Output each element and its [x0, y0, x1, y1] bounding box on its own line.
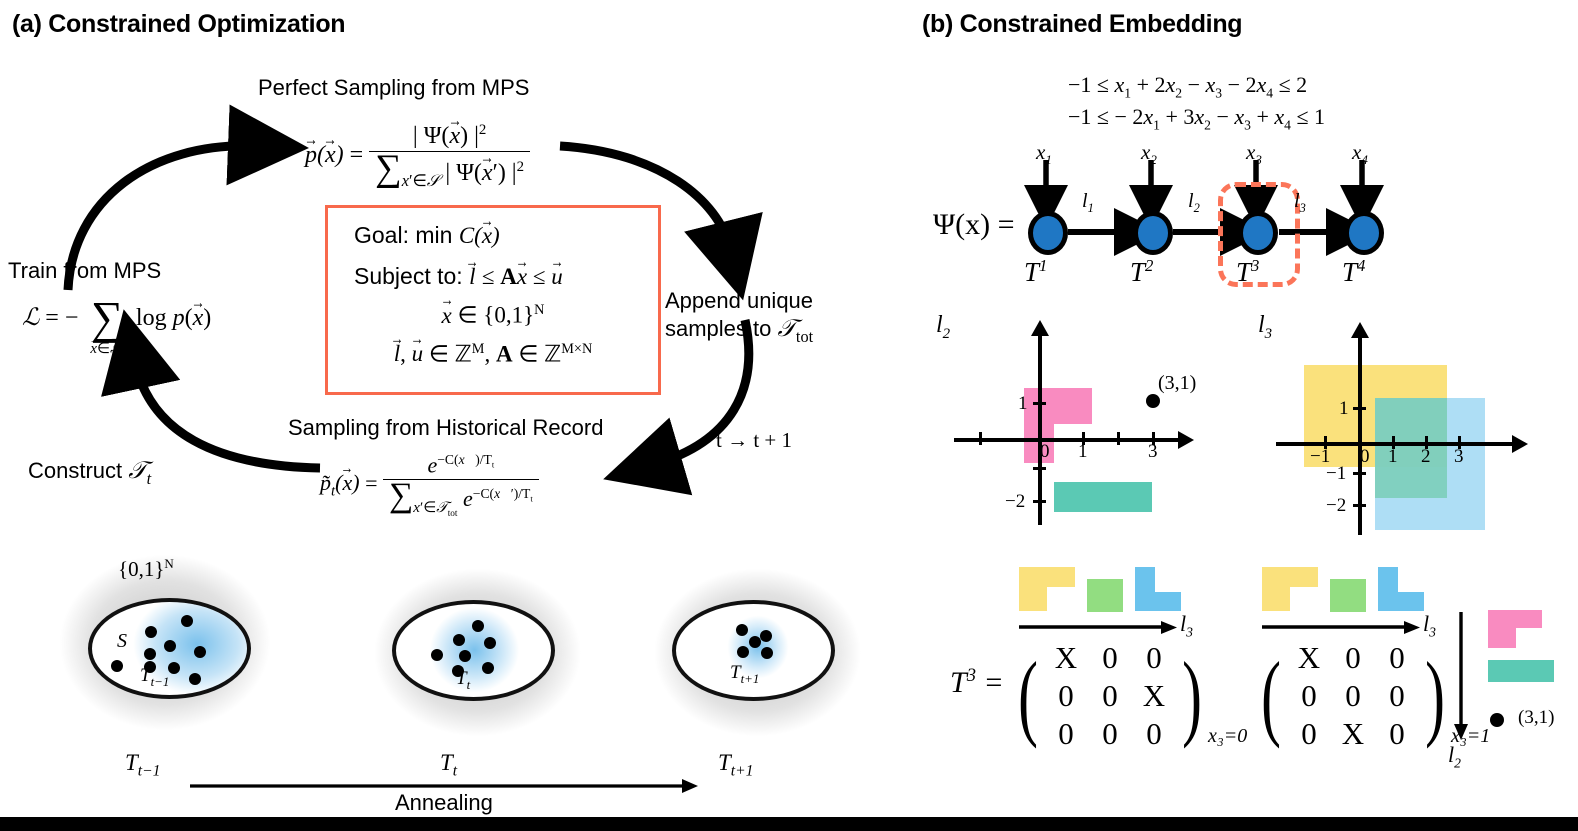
cell1-2-1: X [1331, 716, 1375, 752]
cell-1-0: 0 [1044, 678, 1088, 714]
plot-l3-xtick-3: 3 [1454, 446, 1464, 468]
feasible-ellipse-2: Tt [392, 600, 555, 701]
mps-node-2[interactable] [1133, 211, 1173, 255]
plot-l3-xtick-0: 0 [1360, 446, 1370, 468]
panel-a-title: (a) Constrained Optimization [12, 10, 345, 39]
cell-0-2: 0 [1132, 640, 1176, 676]
yellow-l-shape-left-0 [1019, 567, 1047, 611]
bottom-bar [0, 817, 1578, 831]
yellow-l-shape-left-1 [1262, 567, 1290, 611]
slice0-l3-label: l3 [1180, 611, 1193, 640]
matrix-left-paren-1: ( [1261, 657, 1281, 736]
plot-l2-point-label: (3,1) [1158, 372, 1196, 395]
tensor-label-2: T2 [1130, 256, 1153, 288]
slice0-subscript: x₃=0 [1208, 725, 1247, 748]
label-append-unique: Append unique samples to 𝒯tot [665, 288, 813, 347]
cell-2-0: 0 [1044, 716, 1088, 752]
legend-pink-shape [1488, 610, 1578, 650]
cell1-1-0: 0 [1287, 678, 1331, 714]
slice0-strip [1019, 567, 1229, 617]
cloud-group-3: Tt+1 [620, 545, 900, 760]
slice0-l3-arrow [1019, 620, 1179, 636]
tensor-label-1: T1 [1024, 256, 1047, 288]
legend-point-marker [1490, 713, 1504, 727]
feasible-ellipse-1: S Tt−1 [88, 598, 251, 699]
label-train-from-mps: Train from MPS [8, 258, 161, 284]
tensor-label-4: T4 [1342, 256, 1365, 288]
plot-l2-ytick-neg2: −2 [1005, 491, 1025, 513]
bond-label-1: l1 [1082, 190, 1094, 216]
pink-l-shape-top [1024, 388, 1092, 424]
cell-0-1: 0 [1088, 640, 1132, 676]
feasible-ellipse-3: Tt+1 [672, 600, 835, 701]
cell1-0-2: 0 [1375, 640, 1419, 676]
mps-node-1[interactable] [1028, 211, 1068, 255]
label-construct: Construct 𝒯t [28, 458, 151, 489]
equation-p-tilde: p̃t(x) = e−C(x⃗)/Tt ∑x′∈𝒯tot e−C(x⃗′)/Tt [320, 452, 539, 519]
matrix-right-paren-1: ) [1425, 657, 1445, 736]
plot-l3: l3 −1 0 1 2 3 1 −1 −2 [1250, 310, 1578, 535]
green-square-1 [1330, 579, 1366, 612]
plot-l2-ytick-1: 1 [1018, 393, 1028, 415]
tensor-label-3: T3 [1236, 256, 1259, 288]
goal-line-domain: x ∈ {0,1}N [328, 302, 658, 329]
plot-l2-axis-label: l2 [936, 312, 950, 343]
constraint-line-1: −1 ≤ x1 + 2x2 − x3 − 2x4 ≤ 2 [1068, 72, 1307, 101]
cell-1-1: 0 [1088, 678, 1132, 714]
cell1-2-0: 0 [1287, 716, 1331, 752]
goal-line-subject-to: Subject to: l ≤ Ax ≤ u [328, 263, 658, 290]
panel-b-title: (b) Constrained Embedding [922, 10, 1242, 39]
label-sampling-historical: Sampling from Historical Record [288, 415, 603, 441]
mps-node-4[interactable] [1344, 211, 1384, 255]
cell-1-2: X [1132, 678, 1176, 714]
plot-l2-point [1146, 394, 1160, 408]
plot-l3-y-arrow [1350, 322, 1370, 338]
cell1-0-0: X [1287, 640, 1331, 676]
plot-l2: l2 0 1 3 1 −2 (3,1) [930, 310, 1250, 525]
blue-l-shape-bottom-1 [1378, 592, 1424, 611]
plot-l2-xtick-3: 3 [1148, 441, 1158, 463]
legend-l2-label: l2 [1448, 742, 1461, 771]
plot-l3-ytick-neg2: −2 [1326, 495, 1346, 517]
append-line1: Append unique [665, 288, 813, 315]
plot-l3-ytick-1: 1 [1339, 398, 1349, 420]
cell-2-2: 0 [1132, 716, 1176, 752]
legend-point-label: (3,1) [1518, 707, 1554, 729]
cloud-group-1: {0,1}N S Tt−1 [20, 530, 310, 760]
label-subset-1: Tt−1 [140, 665, 169, 690]
temperature-label-2: Tt [440, 750, 457, 781]
plot-l2-y-axis [1038, 332, 1042, 525]
bond-label-3: l3 [1294, 190, 1306, 216]
cell1-1-2: 0 [1375, 678, 1419, 714]
plot-l2-x-arrow [1176, 430, 1194, 450]
plot-l3-ytick-neg1: −1 [1326, 463, 1346, 485]
cell-0-0: X [1044, 640, 1088, 676]
matrix-grid-0: X 0 0 0 0 X 0 0 0 [1044, 640, 1176, 752]
cell1-1-1: 0 [1331, 678, 1375, 714]
goal-line-objective: Goal: min C(x) [328, 222, 658, 249]
label-set-S: S [117, 630, 127, 653]
matrix-left-paren-0: ( [1018, 657, 1038, 736]
plot-l3-xtick-1: 1 [1388, 446, 1398, 468]
slice1-l3-arrow [1262, 620, 1422, 636]
append-line2: samples to 𝒯tot [665, 315, 813, 347]
cell1-2-2: 0 [1375, 716, 1419, 752]
plot-l3-axis-label: l3 [1258, 312, 1272, 343]
equation-loss: ℒ = − ∑ x∈𝒯t log p(x) [22, 300, 211, 359]
teal-bar [1054, 482, 1152, 512]
blue-l-shape-bottom-0 [1135, 592, 1181, 611]
label-bitstring-space: {0,1}N [118, 556, 174, 582]
label-annealing: Annealing [395, 790, 493, 816]
matrix-grid-1: X 0 0 0 0 0 0 X 0 [1287, 640, 1419, 752]
bond-label-2: l2 [1188, 190, 1200, 216]
tensor-slice-label: T3 = [950, 665, 1004, 700]
temperature-label-1: Tt−1 [125, 750, 161, 781]
green-square-0 [1087, 579, 1123, 612]
matrix-slice-0: ( X 0 0 0 0 X 0 0 0 ) x₃=0 [1012, 640, 1247, 752]
slice1-strip [1262, 567, 1472, 617]
plot-l2-xtick-0: 0 [1040, 441, 1050, 463]
plot-l3-xtick-2: 2 [1421, 446, 1431, 468]
goal-line-integrality: l, u ∈ ℤM, A ∈ ℤM×N [328, 341, 658, 368]
goal-box: Goal: min C(x) Subject to: l ≤ Ax ≤ u x … [325, 205, 661, 395]
plot-l3-x-arrow [1510, 434, 1528, 454]
label-subset-2: Tt [456, 668, 470, 693]
legend-l2-arrow [1452, 612, 1470, 742]
psi-label: Ψ(x) = [933, 208, 1015, 242]
temperature-label-3: Tt+1 [718, 750, 754, 781]
matrix-right-paren-0: ) [1182, 657, 1202, 736]
cell-2-1: 0 [1088, 716, 1132, 752]
slice1-l3-label: l3 [1423, 611, 1436, 640]
cloud-group-2: Tt [340, 545, 620, 760]
legend-teal-bar [1488, 660, 1554, 682]
plot-l2-y-arrow [1030, 320, 1050, 336]
label-t-increment: t → t + 1 [716, 428, 792, 453]
constraint-line-2: −1 ≤ − 2x1 + 3x2 − x3 + x4 ≤ 1 [1068, 104, 1325, 133]
label-subset-3: Tt+1 [730, 662, 759, 687]
cell1-0-1: 0 [1331, 640, 1375, 676]
plot-l2-xtick-1: 1 [1078, 441, 1088, 463]
equation-p-of-x: p(x) = | Ψ(x) |2 ∑x′∈𝒮 | Ψ(x′) |2 [305, 122, 530, 191]
